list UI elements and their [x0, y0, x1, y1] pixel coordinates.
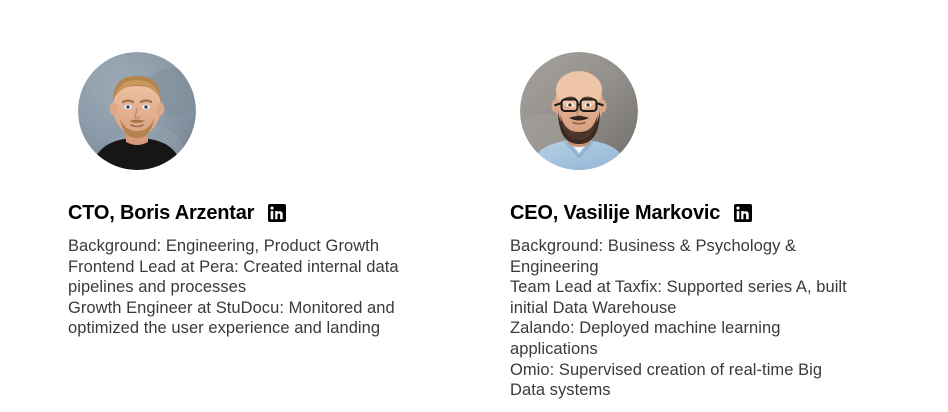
bio-line: Team Lead at Taxfix: Supported series A,…: [510, 277, 860, 318]
avatar-vasilije-markovic: [520, 52, 638, 170]
profile-bio-ceo: Background: Business & Psychology & Engi…: [510, 236, 860, 401]
bio-line: Background: Business & Psychology & Engi…: [510, 236, 860, 277]
bio-line: Omio: Supervised creation of real-time B…: [510, 360, 860, 401]
person-name: CTO, Boris Arzentar: [68, 200, 254, 226]
bio-line: Growth Engineer at StuDocu: Monitored an…: [68, 298, 413, 339]
profile-card-ceo: CEO, Vasilije Markovic Background: Busin…: [510, 52, 910, 170]
profile-card-cto: CTO, Boris Arzentar Background: Engineer…: [68, 52, 468, 170]
team-profiles-page: CTO, Boris Arzentar Background: Engineer…: [0, 0, 948, 412]
profile-name-row-ceo: CEO, Vasilije Markovic: [510, 200, 752, 226]
profile-bio-cto: Background: Engineering, Product Growth …: [68, 236, 413, 339]
profile-name-row-cto: CTO, Boris Arzentar: [68, 200, 286, 226]
bio-line: Frontend Lead at Pera: Created internal …: [68, 257, 413, 298]
avatar-boris-arzentar: [78, 52, 196, 170]
bio-line: Background: Engineering, Product Growth: [68, 236, 413, 257]
bio-line: Zalando: Deployed machine learning appli…: [510, 318, 860, 359]
linkedin-icon[interactable]: [734, 204, 752, 222]
person-name: CEO, Vasilije Markovic: [510, 200, 720, 226]
linkedin-icon[interactable]: [268, 204, 286, 222]
